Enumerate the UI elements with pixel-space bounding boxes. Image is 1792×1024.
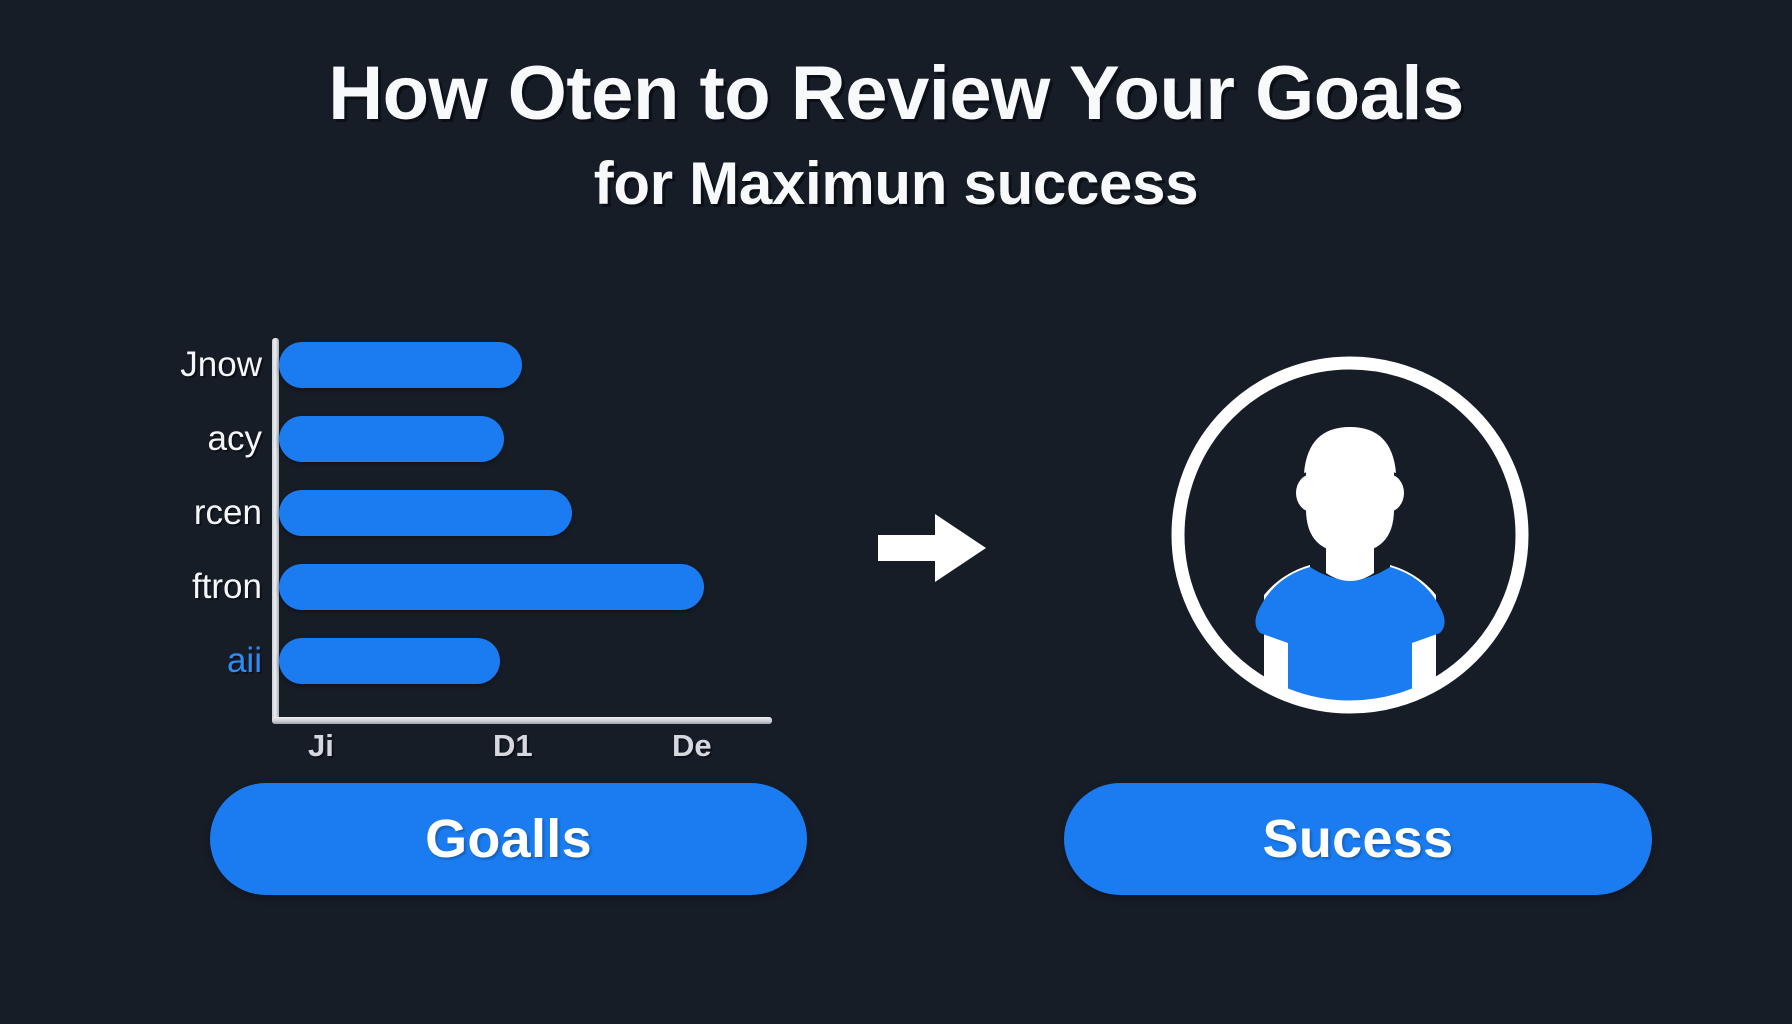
chart-bar-row: ftron (100, 564, 800, 610)
page-subtitle: for Maximun success (0, 154, 1792, 214)
chart-category-label: ftron (102, 564, 262, 610)
person-avatar-icon (1160, 345, 1540, 725)
chart-bar (279, 638, 500, 684)
chart-category-label: acy (102, 416, 262, 462)
chart-category-label: aii (102, 638, 262, 684)
chart-bar (279, 564, 704, 610)
goals-button[interactable]: Goalls (210, 783, 807, 895)
chart-bar (279, 416, 504, 462)
chart-category-label: rcen (102, 490, 262, 536)
chart-bar-row: Jnow (100, 342, 800, 388)
chart-x-tick-label: De (672, 728, 712, 764)
arrow-right-icon (878, 510, 988, 586)
chart-x-tick-label: D1 (493, 728, 533, 764)
chart-bar-row: aii (100, 638, 800, 684)
chart-x-tick-label: Ji (308, 728, 334, 764)
chart-bar (279, 490, 572, 536)
page-title: How Oten to Review Your Goals (0, 56, 1792, 132)
infographic-canvas: How Oten to Review Your Goals for Maximu… (0, 0, 1792, 1024)
chart-bar-row: rcen (100, 490, 800, 536)
chart-bar-row: acy (100, 416, 800, 462)
bar-chart: JnowacyrcenftronaiiJiD1De (100, 330, 800, 730)
chart-x-axis (272, 717, 772, 724)
chart-plot-area: JnowacyrcenftronaiiJiD1De (100, 330, 800, 730)
heading-block: How Oten to Review Your Goals for Maximu… (0, 56, 1792, 214)
chart-category-label: Jnow (102, 342, 262, 388)
success-button[interactable]: Sucess (1064, 783, 1652, 895)
chart-bar (279, 342, 522, 388)
